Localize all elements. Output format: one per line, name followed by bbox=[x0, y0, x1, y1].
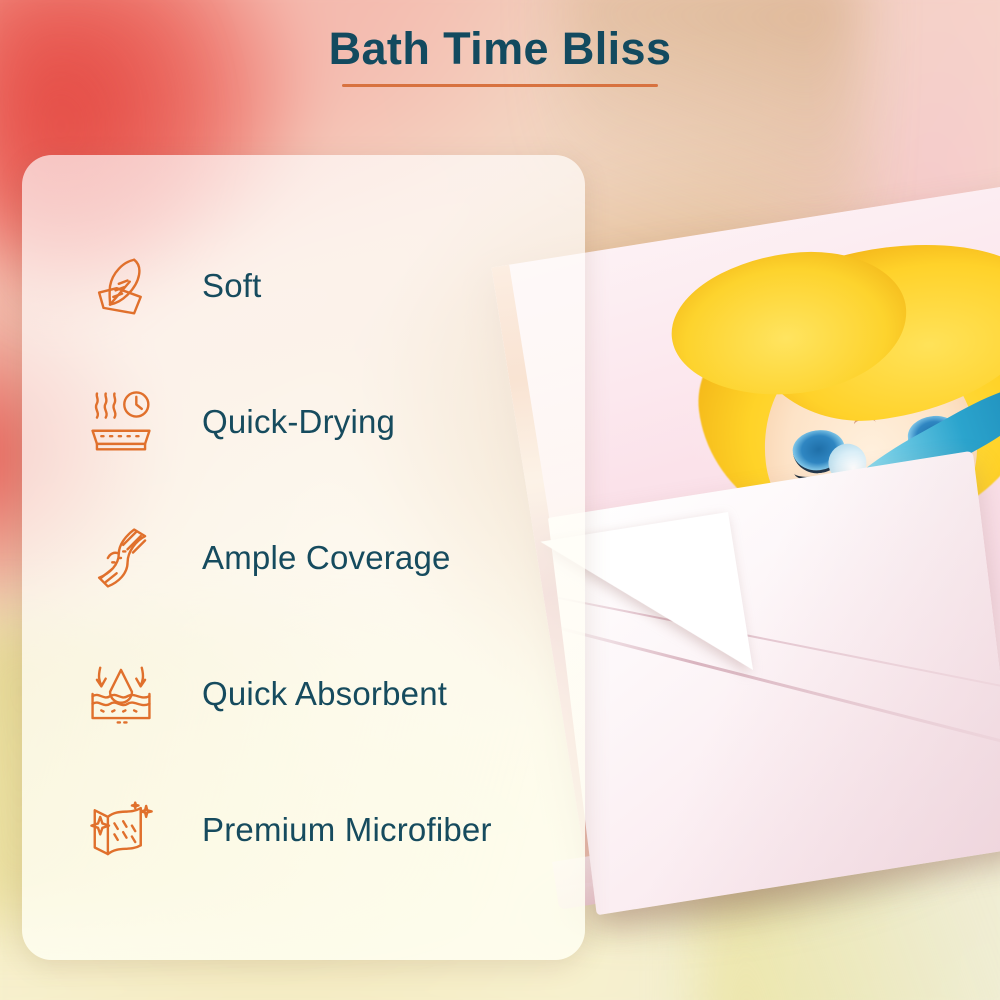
feature-item-quick-absorbent: Quick Absorbent bbox=[22, 626, 585, 762]
wavy-striped-towel-icon bbox=[84, 521, 158, 595]
feature-label: Premium Microfiber bbox=[202, 811, 492, 849]
feature-label: Ample Coverage bbox=[202, 539, 451, 577]
feature-list-card: Soft Quick-Drying bbox=[22, 155, 585, 960]
water-droplet-absorption-icon bbox=[84, 657, 158, 731]
heat-waves-clock-mat-icon bbox=[84, 385, 158, 459]
product-feature-banner: Bath Time Bliss Soft bbox=[0, 0, 1000, 1000]
sparkling-fiber-cloth-icon bbox=[84, 793, 158, 867]
feature-label: Quick-Drying bbox=[202, 403, 395, 441]
feature-label: Quick Absorbent bbox=[202, 675, 447, 713]
feature-item-soft: Soft bbox=[22, 218, 585, 354]
feature-item-premium-microfiber: Premium Microfiber bbox=[22, 762, 585, 898]
banner-header: Bath Time Bliss bbox=[0, 22, 1000, 87]
feature-item-quick-drying: Quick-Drying bbox=[22, 354, 585, 490]
title-underline-rule bbox=[342, 84, 658, 87]
feature-label: Soft bbox=[202, 267, 262, 305]
feature-item-ample-coverage: Ample Coverage bbox=[22, 490, 585, 626]
feather-on-cloth-icon bbox=[84, 249, 158, 323]
page-title: Bath Time Bliss bbox=[0, 22, 1000, 75]
